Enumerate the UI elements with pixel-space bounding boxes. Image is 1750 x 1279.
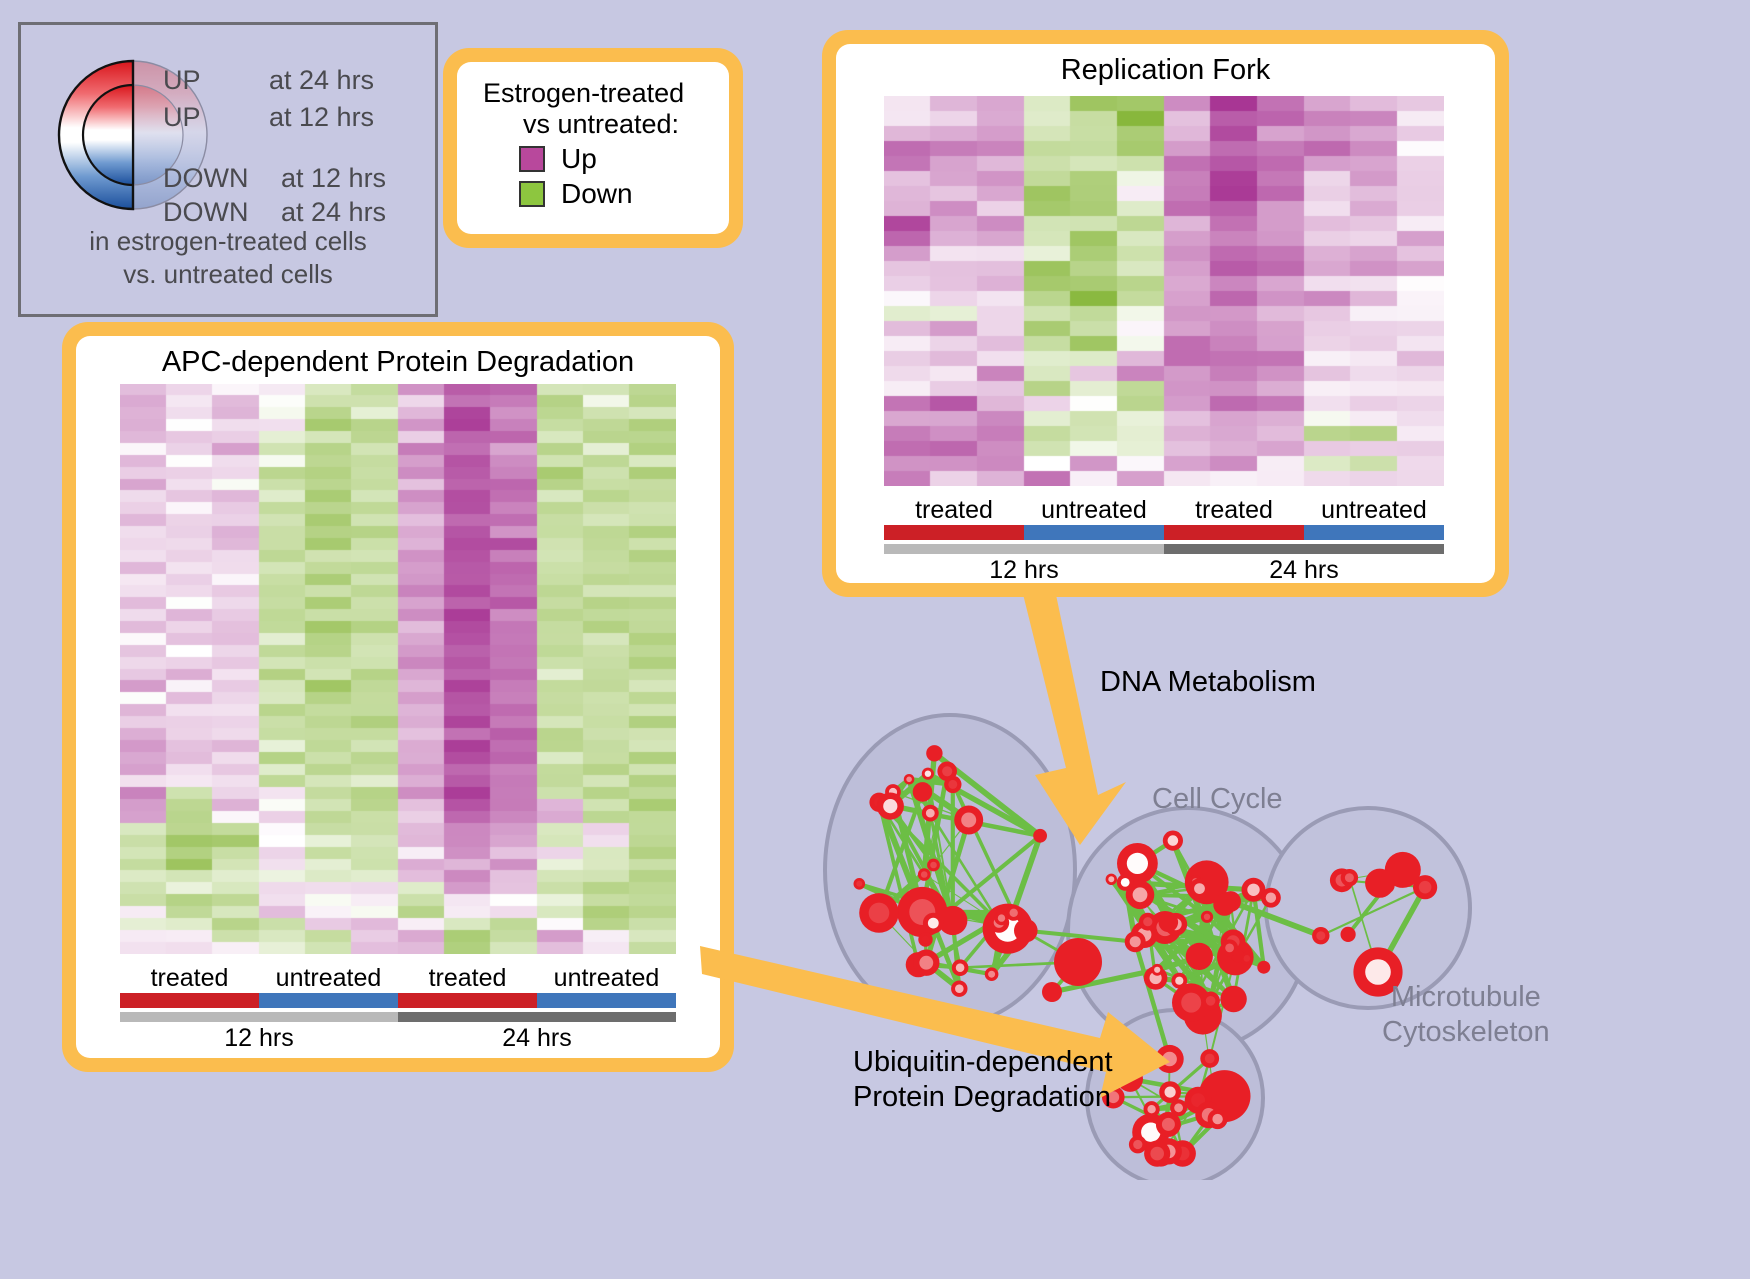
replication-fork-panel: Replication Fork treateduntreatedtreated… bbox=[822, 30, 1509, 597]
key-row-2-time: at 12 hrs bbox=[281, 163, 386, 194]
replication-fork-time-labels: 12 hrs 24 hrs bbox=[884, 556, 1444, 585]
cluster-label-ubiquitin-line1: Ubiquitin-dependent bbox=[853, 1045, 1113, 1080]
key-row-2-label: DOWN bbox=[163, 163, 248, 194]
replication-fork-time-bar bbox=[884, 544, 1444, 554]
legend-up-swatch bbox=[519, 146, 545, 172]
network-node[interactable] bbox=[1129, 1136, 1147, 1154]
network-node[interactable] bbox=[1117, 874, 1134, 891]
network-node[interactable] bbox=[1033, 829, 1047, 843]
network-node[interactable] bbox=[1413, 875, 1437, 899]
sample-label: treated bbox=[120, 964, 259, 993]
cluster-label-microtubule-line2: Cytoskeleton bbox=[1382, 1015, 1550, 1050]
network-node[interactable] bbox=[1163, 831, 1183, 851]
time-label-12hrs: 12 hrs bbox=[120, 1024, 398, 1053]
condition-segment bbox=[537, 993, 676, 1008]
key-footer-line1: in estrogen-treated cells bbox=[21, 225, 435, 258]
legend-down-swatch bbox=[519, 181, 545, 207]
network-node[interactable] bbox=[926, 745, 942, 761]
network-node[interactable] bbox=[985, 967, 999, 981]
network-node[interactable] bbox=[1171, 973, 1187, 989]
network-node[interactable] bbox=[927, 859, 940, 872]
cluster-label-microtubule-cytoskeleton: Microtubule Cytoskeleton bbox=[1382, 980, 1550, 1050]
condition-segment bbox=[398, 993, 537, 1008]
apc-sample-labels: treateduntreatedtreateduntreated bbox=[120, 964, 676, 993]
network-node[interactable] bbox=[1201, 992, 1220, 1011]
replication-fork-heatmap bbox=[884, 96, 1444, 486]
expression-key-box: UP at 24 hrs UP at 12 hrs DOWN at 12 hrs… bbox=[18, 22, 438, 317]
network-node[interactable] bbox=[1200, 1049, 1219, 1068]
network-node[interactable] bbox=[1054, 938, 1102, 986]
network-node[interactable] bbox=[918, 932, 932, 946]
network-node[interactable] bbox=[944, 776, 961, 793]
network-node[interactable] bbox=[913, 782, 933, 802]
legend-title: Estrogen-treated vs untreated: bbox=[483, 78, 719, 140]
legend-title-line2: vs untreated: bbox=[483, 109, 719, 140]
network-node[interactable] bbox=[1151, 964, 1163, 976]
time-bar-12hrs bbox=[120, 1012, 398, 1022]
network-node[interactable] bbox=[952, 959, 969, 976]
apc-degradation-title: APC-dependent Protein Degradation bbox=[76, 336, 720, 379]
network-node[interactable] bbox=[1189, 878, 1210, 899]
apc-degradation-panel: APC-dependent Protein Degradation treate… bbox=[62, 322, 734, 1072]
condition-segment bbox=[1164, 525, 1304, 540]
condition-segment bbox=[1024, 525, 1164, 540]
key-row-1-label: UP bbox=[163, 102, 201, 133]
network-node[interactable] bbox=[859, 893, 899, 933]
sample-label: treated bbox=[1164, 496, 1304, 525]
network-node[interactable] bbox=[1125, 931, 1146, 952]
network-node[interactable] bbox=[922, 805, 939, 822]
network-node[interactable] bbox=[1159, 1081, 1181, 1103]
sample-label: untreated bbox=[1024, 496, 1164, 525]
network-node[interactable] bbox=[922, 768, 934, 780]
apc-time-labels: 12 hrs 24 hrs bbox=[120, 1024, 676, 1053]
network-node[interactable] bbox=[951, 981, 967, 997]
key-row-3-time: at 24 hrs bbox=[281, 197, 386, 228]
key-row-3-label: DOWN bbox=[163, 197, 248, 228]
condition-segment bbox=[1304, 525, 1444, 540]
network-node[interactable] bbox=[1042, 982, 1062, 1002]
sample-label: untreated bbox=[259, 964, 398, 993]
network-node[interactable] bbox=[1159, 913, 1179, 933]
network-node[interactable] bbox=[854, 878, 866, 890]
network-node[interactable] bbox=[1156, 1045, 1184, 1073]
replication-fork-title: Replication Fork bbox=[836, 44, 1495, 87]
network-node[interactable] bbox=[1117, 1066, 1143, 1092]
network-node[interactable] bbox=[904, 774, 915, 785]
network-node[interactable] bbox=[1014, 919, 1038, 943]
network-node[interactable] bbox=[918, 868, 931, 881]
sample-label: untreated bbox=[537, 964, 676, 993]
network-node[interactable] bbox=[913, 950, 939, 976]
network-node[interactable] bbox=[923, 913, 944, 934]
key-row-0-time: at 24 hrs bbox=[269, 65, 374, 96]
legend-up-label: Up bbox=[561, 143, 597, 175]
legend-down-label: Down bbox=[561, 178, 633, 210]
replication-fork-condition-bar bbox=[884, 525, 1444, 540]
network-node[interactable] bbox=[954, 806, 983, 835]
network-node[interactable] bbox=[1341, 869, 1358, 886]
network-node[interactable] bbox=[1144, 1141, 1170, 1167]
network-node[interactable] bbox=[1220, 986, 1246, 1012]
condition-segment bbox=[884, 525, 1024, 540]
network-node[interactable] bbox=[877, 793, 904, 820]
key-footer: in estrogen-treated cells vs. untreated … bbox=[21, 225, 435, 290]
network-node[interactable] bbox=[1365, 869, 1394, 898]
cluster-label-cell-cycle: Cell Cycle bbox=[1152, 782, 1283, 817]
sample-label: treated bbox=[884, 496, 1024, 525]
legend-item-down: Down bbox=[519, 178, 719, 210]
network-node[interactable] bbox=[1261, 888, 1281, 908]
time-bar-24hrs bbox=[398, 1012, 676, 1022]
cluster-label-ubiquitin-line2: Protein Degradation bbox=[853, 1080, 1113, 1115]
legend-title-line1: Estrogen-treated bbox=[483, 78, 719, 109]
cluster-label-dna-metabolism: DNA Metabolism bbox=[1100, 665, 1316, 700]
up-down-legend-panel: Estrogen-treated vs untreated: Up Down bbox=[443, 48, 743, 248]
replication-fork-sample-labels: treateduntreatedtreateduntreated bbox=[884, 496, 1444, 525]
apc-time-bar bbox=[120, 1012, 676, 1022]
cluster-label-microtubule-line1: Microtubule bbox=[1382, 980, 1550, 1015]
time-label-24hrs: 24 hrs bbox=[398, 1024, 676, 1053]
apc-condition-bar bbox=[120, 993, 676, 1008]
sample-label: treated bbox=[398, 964, 537, 993]
legend-item-up: Up bbox=[519, 143, 719, 175]
network-node[interactable] bbox=[1221, 939, 1238, 956]
network-node[interactable] bbox=[1201, 911, 1213, 923]
time-label-12hrs: 12 hrs bbox=[884, 556, 1164, 585]
network-node[interactable] bbox=[1208, 1109, 1228, 1129]
time-label-24hrs: 24 hrs bbox=[1164, 556, 1444, 585]
network-node[interactable] bbox=[1144, 1101, 1160, 1117]
key-row-0-label: UP bbox=[163, 65, 201, 96]
time-bar-24hrs bbox=[1164, 544, 1444, 554]
network-node[interactable] bbox=[1139, 913, 1157, 931]
condition-segment bbox=[259, 993, 398, 1008]
condition-segment bbox=[120, 993, 259, 1008]
apc-degradation-heatmap bbox=[120, 384, 676, 954]
network-node[interactable] bbox=[1312, 927, 1329, 944]
key-footer-line2: vs. untreated cells bbox=[21, 258, 435, 291]
key-row-1-time: at 12 hrs bbox=[269, 102, 374, 133]
network-node[interactable] bbox=[994, 911, 1008, 925]
cluster-label-ubiquitin-protein-degradation: Ubiquitin-dependent Protein Degradation bbox=[853, 1045, 1113, 1115]
network-node[interactable] bbox=[1186, 943, 1213, 970]
time-bar-12hrs bbox=[884, 544, 1164, 554]
network-node[interactable] bbox=[1257, 961, 1270, 974]
sample-label: untreated bbox=[1304, 496, 1444, 525]
network-node[interactable] bbox=[1106, 874, 1117, 885]
network-node[interactable] bbox=[1341, 927, 1356, 942]
network-node[interactable] bbox=[1213, 893, 1235, 915]
